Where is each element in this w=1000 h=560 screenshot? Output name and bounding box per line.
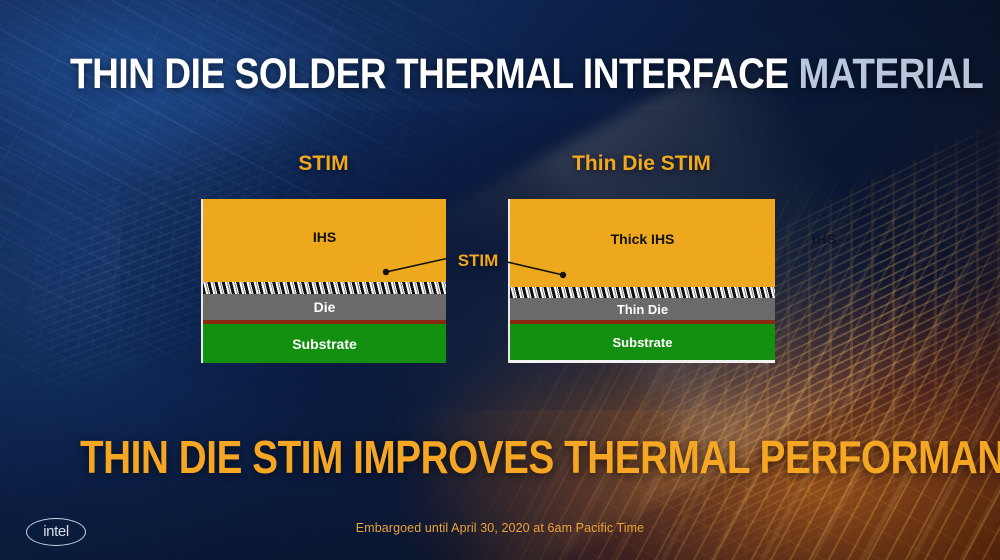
- layer-die: Die: [203, 294, 446, 320]
- page-title-main: THIN DIE SOLDER THERMAL INTERFACE: [70, 50, 789, 98]
- layer-thick-ihs: Thick IHS: [510, 199, 775, 287]
- slide-canvas: IHS THIN DIE SOLDER THERMAL INTERFACE MA…: [0, 0, 1000, 560]
- layer-thin-die: Thin Die: [510, 298, 775, 320]
- intel-logo: intel: [26, 518, 86, 546]
- embargo-note: Embargoed until April 30, 2020 at 6am Pa…: [0, 521, 1000, 535]
- stim-callout-label: STIM: [447, 251, 509, 271]
- layer-base-line: [510, 360, 775, 363]
- layer-substrate: Substrate: [510, 324, 775, 360]
- diagram-heading-right: Thin Die STIM: [508, 152, 775, 176]
- diagram-heading-left: STIM: [201, 152, 446, 176]
- page-title: THIN DIE SOLDER THERMAL INTERFACE MATERI…: [70, 50, 930, 99]
- diagram-stack-left: IHS Die Substrate: [201, 199, 446, 363]
- headline-text: THIN DIE STIM IMPROVES THERMAL PERFORMAN…: [80, 430, 920, 484]
- layer-ihs: IHS: [203, 199, 446, 282]
- page-title-accent: MATERIAL: [789, 50, 984, 98]
- layer-stim-hatch: [203, 282, 446, 294]
- ghost-ihs-label: IHS: [812, 231, 837, 247]
- logo-wordmark: intel: [26, 518, 86, 546]
- layer-stim-hatch: [510, 287, 775, 298]
- diagram-stack-right: Thick IHS Thin Die Substrate: [508, 199, 775, 363]
- layer-substrate: Substrate: [203, 324, 446, 363]
